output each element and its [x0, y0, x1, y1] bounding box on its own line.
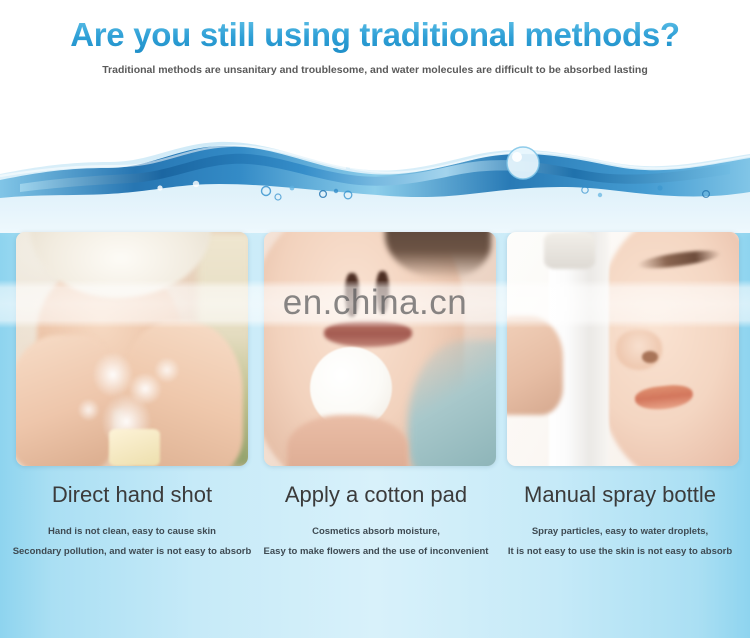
- caption-body: Cosmetics absorb moisture, Easy to make …: [252, 522, 500, 562]
- caption-body: Hand is not clean, easy to cause skin Se…: [8, 522, 256, 562]
- product-infographic-page: Are you still using traditional methods?…: [0, 0, 750, 638]
- caption-line: Secondary pollution, and water is not ea…: [8, 542, 256, 562]
- caption-title: Apply a cotton pad: [252, 482, 500, 508]
- caption-apply-a-cotton-pad: Apply a cotton pad Cosmetics absorb mois…: [252, 482, 500, 562]
- caption-title: Direct hand shot: [8, 482, 256, 508]
- caption-body: Spray particles, easy to water droplets,…: [496, 522, 744, 562]
- caption-line: Hand is not clean, easy to cause skin: [8, 522, 256, 542]
- content-panel: Direct hand shot Hand is not clean, easy…: [0, 118, 750, 638]
- header-section: Are you still using traditional methods?…: [0, 0, 750, 118]
- caption-line: It is not easy to use the skin is not ea…: [496, 542, 744, 562]
- caption-line: Spray particles, easy to water droplets,: [496, 522, 744, 542]
- caption-title: Manual spray bottle: [496, 482, 744, 508]
- caption-line: Cosmetics absorb moisture,: [252, 522, 500, 542]
- caption-line: Easy to make flowers and the use of inco…: [252, 542, 500, 562]
- caption-manual-spray-bottle: Manual spray bottle Spray particles, eas…: [496, 482, 744, 562]
- caption-direct-hand-shot: Direct hand shot Hand is not clean, easy…: [8, 482, 256, 562]
- page-title: Are you still using traditional methods?: [0, 16, 750, 54]
- page-subtitle: Traditional methods are unsanitary and t…: [0, 64, 750, 76]
- caption-row: Direct hand shot Hand is not clean, easy…: [0, 118, 750, 638]
